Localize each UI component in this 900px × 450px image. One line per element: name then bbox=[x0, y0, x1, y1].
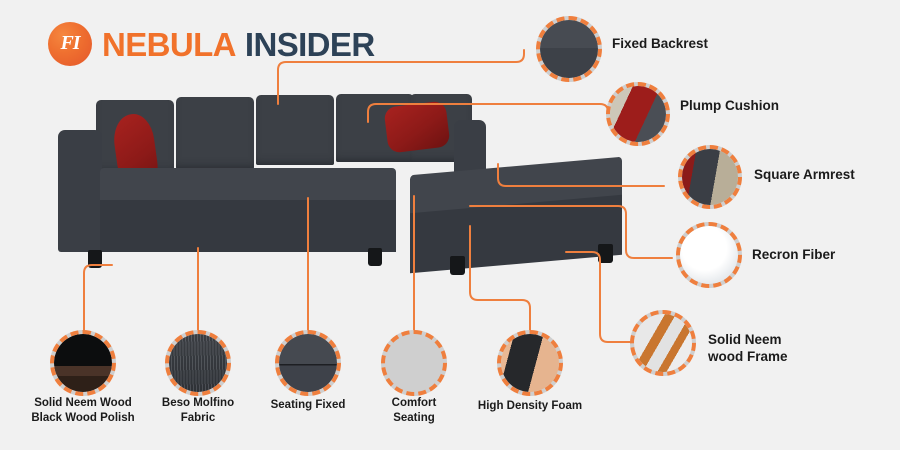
fixed-seat-swatch bbox=[279, 334, 337, 392]
swatch-beso-molfino-fabric[interactable] bbox=[165, 330, 231, 396]
hand-on-cushion-swatch bbox=[385, 334, 443, 392]
brand-wordmark: NEBULA INSIDER bbox=[102, 28, 375, 61]
infographic-canvas: FI NEBULA INSIDER bbox=[0, 0, 900, 450]
swatch-solid-neem-wood-frame[interactable] bbox=[630, 310, 696, 376]
red-pillow-swatch bbox=[610, 86, 666, 142]
swatch-comfort-seating[interactable] bbox=[381, 330, 447, 396]
foam-block-swatch bbox=[501, 334, 559, 392]
fabric-backrest-swatch bbox=[540, 20, 598, 78]
label-fixed-backrest: Fixed Backrest bbox=[612, 35, 708, 52]
swatch-seating-fixed[interactable] bbox=[275, 330, 341, 396]
swatch-square-armrest[interactable] bbox=[678, 145, 742, 209]
armrest-swatch bbox=[682, 149, 738, 205]
brand-name-primary: NEBULA bbox=[102, 28, 236, 61]
swatch-recron-fiber[interactable] bbox=[676, 222, 742, 288]
label-recron-fiber: Recron Fiber bbox=[752, 246, 835, 263]
black-polish-wood-swatch bbox=[54, 334, 112, 392]
molfino-fabric-swatch bbox=[169, 334, 227, 392]
sofa-illustration bbox=[58, 92, 628, 282]
label-plump-cushion: Plump Cushion bbox=[680, 97, 779, 114]
brand-logo: FI NEBULA INSIDER bbox=[48, 22, 375, 66]
label-beso-molfino-fabric: Beso Molfino Fabric bbox=[162, 396, 234, 425]
label-solid-neem-wood-black-polish: Solid Neem Wood Black Wood Polish bbox=[31, 396, 134, 425]
wood-frame-swatch bbox=[634, 314, 692, 372]
label-seating-fixed: Seating Fixed bbox=[271, 398, 346, 413]
brand-name-secondary: INSIDER bbox=[245, 28, 375, 61]
label-solid-neem-wood-frame: Solid Neem wood Frame bbox=[708, 331, 788, 366]
label-comfort-seating: Comfort Seating bbox=[392, 396, 437, 425]
label-high-density-foam: High Density Foam bbox=[478, 399, 582, 414]
label-square-armrest: Square Armrest bbox=[754, 166, 855, 183]
fi-monogram-icon: FI bbox=[48, 22, 92, 66]
swatch-high-density-foam[interactable] bbox=[497, 330, 563, 396]
swatch-solid-neem-wood-black-polish[interactable] bbox=[50, 330, 116, 396]
white-fiber-swatch bbox=[680, 226, 738, 284]
swatch-plump-cushion[interactable] bbox=[606, 82, 670, 146]
swatch-fixed-backrest[interactable] bbox=[536, 16, 602, 82]
